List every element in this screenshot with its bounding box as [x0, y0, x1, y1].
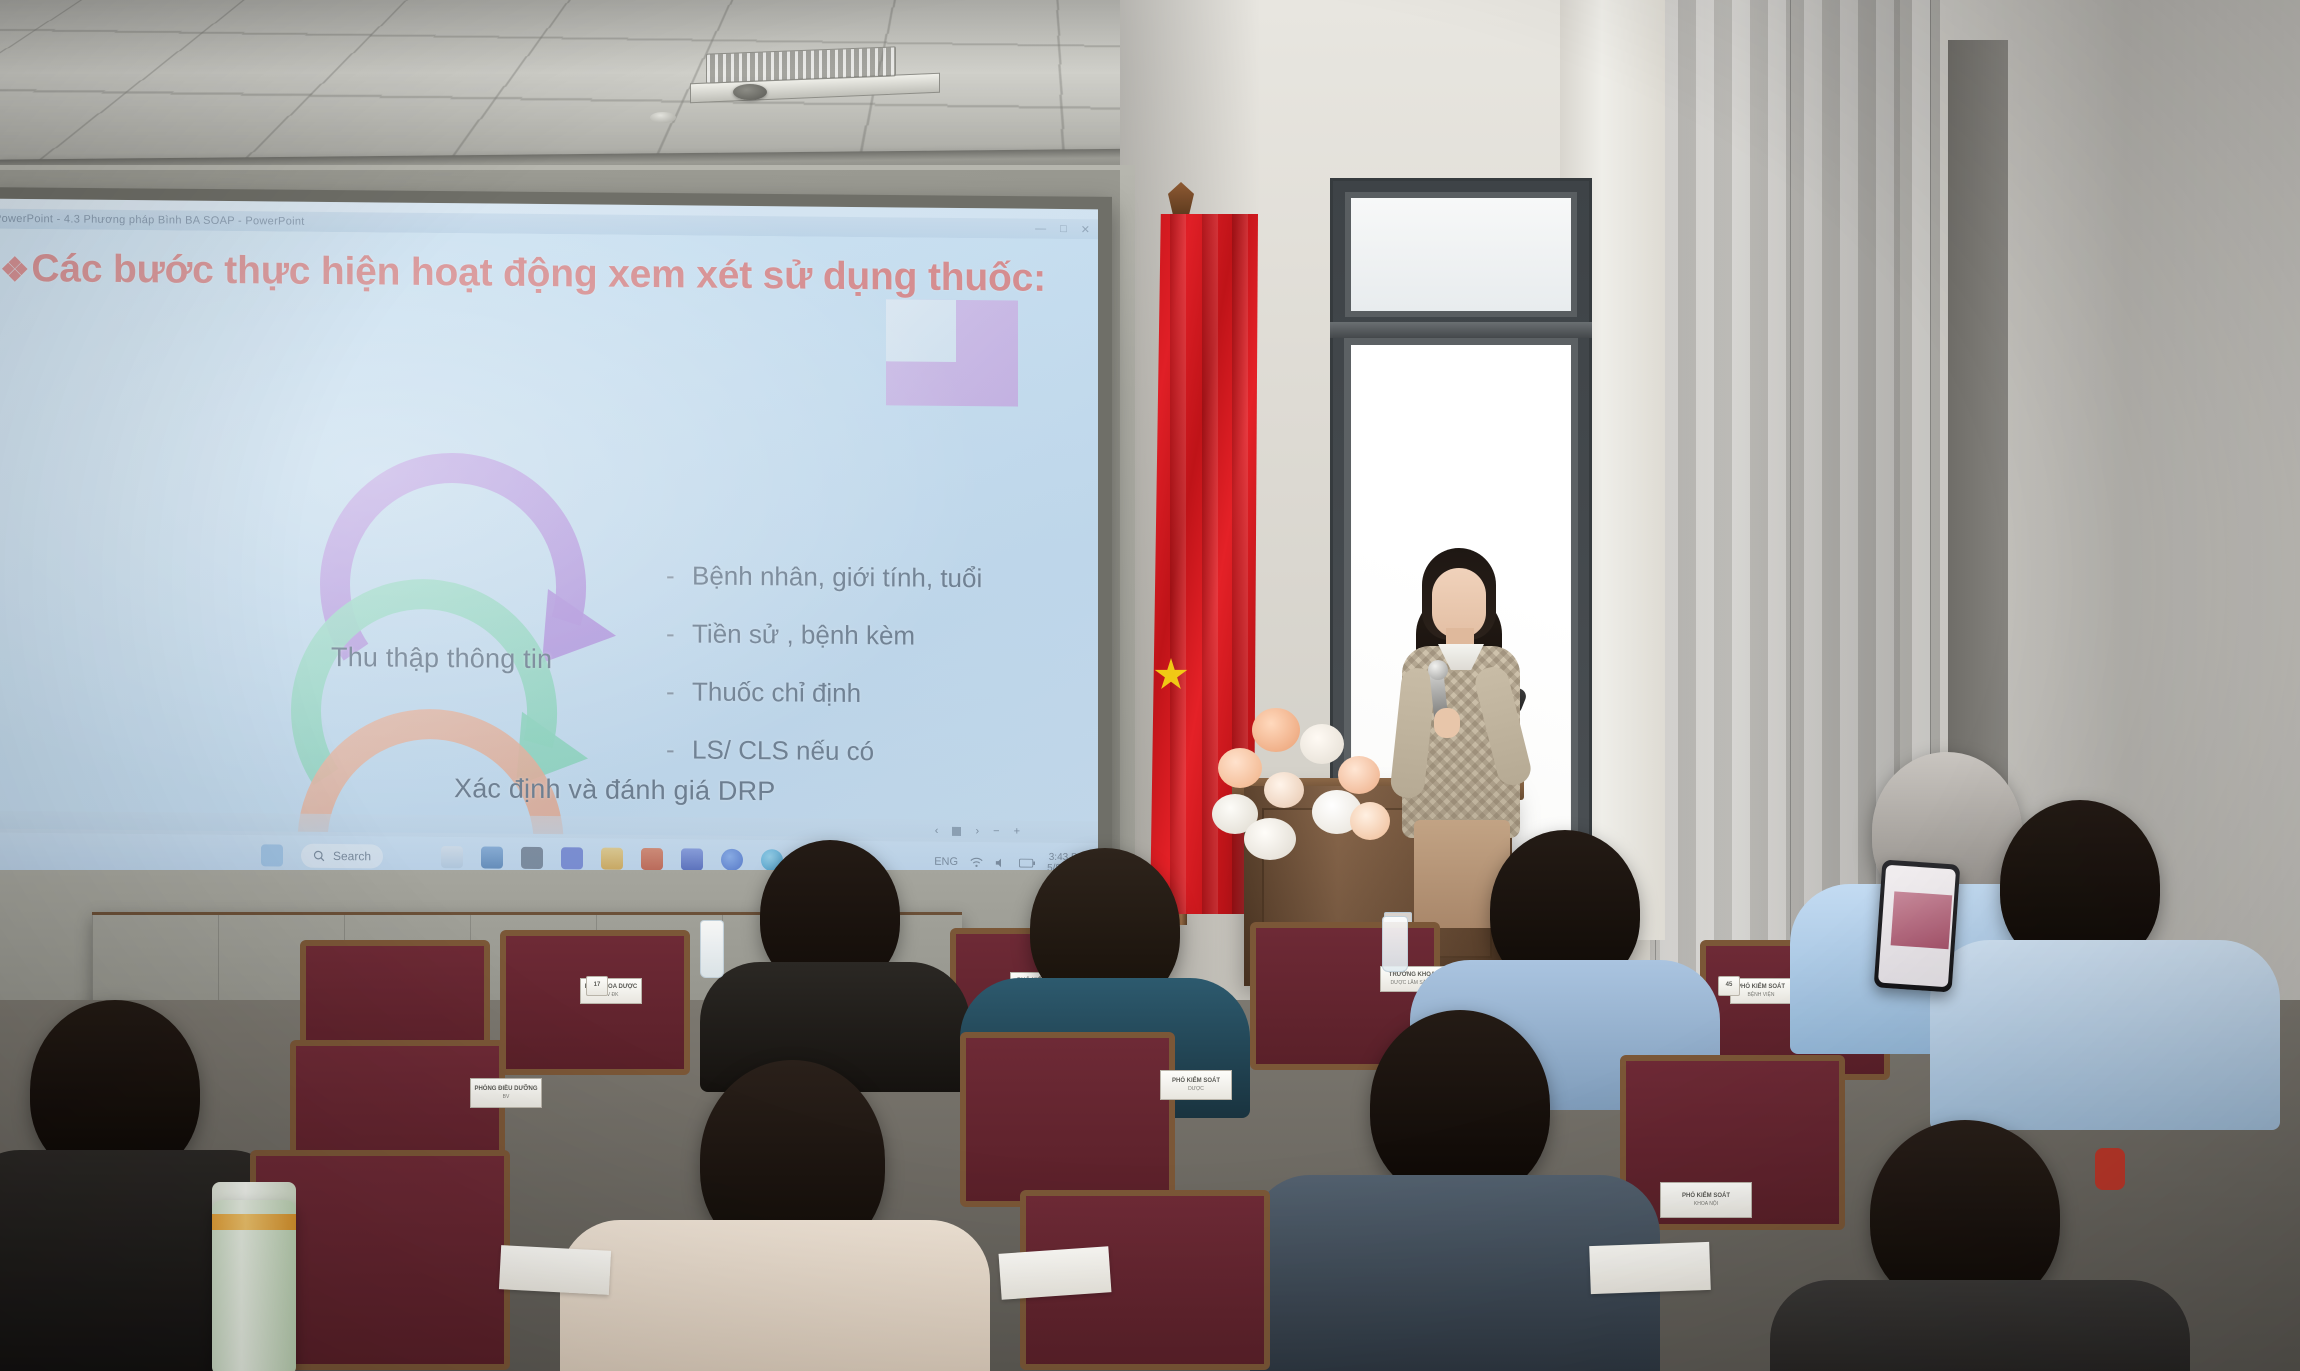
slide-title-bullet-icon: ❖ — [0, 251, 29, 288]
window-controls[interactable]: — □ ✕ — [1035, 222, 1090, 236]
nameplate: PHÓ KIỂM SOÁT KHOA NỘI — [1660, 1182, 1752, 1218]
zalo-icon[interactable] — [721, 849, 743, 871]
phone-screen — [1878, 865, 1956, 988]
smoke-detector-icon — [650, 112, 676, 123]
nameplate-sub: KHOA NỘI — [1694, 1201, 1718, 1207]
teams-icon[interactable] — [561, 847, 583, 869]
audience-head — [1370, 1010, 1550, 1200]
bullet-text: Tiền sử , bệnh kèm — [692, 618, 915, 650]
seat-number: 17 — [594, 982, 601, 990]
slide-bullet-list: -Bệnh nhân, giới tính, tuổi -Tiền sử , b… — [666, 560, 982, 795]
widgets-icon[interactable] — [261, 844, 283, 866]
store-icon[interactable] — [481, 846, 503, 868]
bullet-dash: - — [666, 560, 692, 591]
powerpoint-slide: ❖Các bước thực hiện hoạt động xem xét sử… — [0, 229, 1098, 840]
nameplate-title: PHÓ KIỂM SOÁT — [1737, 984, 1785, 992]
chair-back — [960, 1032, 1175, 1207]
battery-icon[interactable] — [1019, 858, 1035, 867]
zoom-out-button[interactable]: − — [993, 825, 999, 837]
audience-shoulders — [1770, 1280, 2190, 1371]
list-item: -Bệnh nhân, giới tính, tuổi — [666, 560, 982, 594]
microphone-head-icon — [1428, 660, 1448, 680]
maximize-icon[interactable]: □ — [1060, 222, 1067, 235]
seat-number-badge: 45 — [1718, 976, 1740, 996]
decorative-purple-notch — [886, 299, 956, 362]
file-explorer-icon[interactable] — [441, 846, 463, 868]
task-view-icon[interactable] — [521, 847, 543, 869]
nameplate-sub: BỆNH VIỆN — [1748, 992, 1775, 998]
ceiling-speaker-icon — [733, 84, 767, 100]
nameplate: PHÓ KIỂM SOÁT DƯỢC — [1160, 1070, 1232, 1100]
paper-handout — [999, 1246, 1112, 1300]
slide-indicator-icon — [952, 826, 961, 835]
audience-shoulders — [560, 1220, 990, 1371]
phone-camera-preview — [1891, 891, 1953, 949]
powerpoint-icon[interactable] — [641, 848, 663, 870]
bullet-text: Thuốc chỉ định — [692, 676, 861, 708]
nameplate-sub: BV — [503, 1094, 510, 1100]
bullet-text: LS/ CLS nếu có — [692, 734, 874, 766]
paper-handout — [499, 1245, 611, 1295]
diagram-step-label-1: Thu thập thông tin — [331, 642, 552, 675]
bullet-text: Bệnh nhân, giới tính, tuổi — [692, 560, 982, 593]
search-input[interactable]: Search — [301, 844, 383, 869]
powerpoint-title-text: PowerPoint - 4.3 Phương pháp Bình BA SOA… — [0, 213, 305, 228]
minimize-icon[interactable]: — — [1035, 222, 1046, 235]
paper-handout — [1589, 1242, 1711, 1294]
volume-icon[interactable] — [995, 857, 1007, 868]
flower-arrangement — [1208, 690, 1408, 870]
zoom-in-button[interactable]: + — [1014, 826, 1020, 838]
slide-title: ❖Các bước thực hiện hoạt động xem xét sử… — [0, 247, 1046, 301]
language-indicator[interactable]: ENG — [934, 856, 958, 868]
word-icon[interactable] — [681, 848, 703, 870]
search-placeholder: Search — [333, 849, 371, 863]
presenter-hand — [1434, 708, 1460, 738]
search-icon — [313, 850, 325, 862]
slide-title-text: Các bước thực hiện hoạt động xem xét sử … — [31, 247, 1045, 300]
wifi-icon[interactable] — [970, 857, 983, 868]
nameplate-title: PHÓ KIỂM SOÁT — [1172, 1078, 1220, 1086]
bullet-dash: - — [666, 618, 692, 649]
window-upper-pane — [1345, 192, 1577, 317]
bullet-dash: - — [666, 676, 692, 707]
projection-screen[interactable]: PowerPoint - 4.3 Phương pháp Bình BA SOA… — [0, 199, 1098, 884]
thermos-label — [212, 1214, 296, 1230]
folder-icon[interactable] — [601, 848, 623, 870]
bullet-dash: - — [666, 734, 692, 765]
water-bottle — [700, 920, 724, 978]
nameplate-sub: DƯỢC — [1188, 1086, 1204, 1092]
list-item: -Thuốc chỉ định — [666, 676, 982, 710]
nameplate-title: PHÒNG ĐIỀU DƯỠNG — [474, 1086, 537, 1094]
prev-slide-button[interactable]: ‹ — [935, 825, 939, 837]
audience-shoulders — [1930, 940, 2280, 1130]
nameplate-title: PHÓ KIỂM SOÁT — [1682, 1193, 1730, 1201]
next-slide-button[interactable]: › — [975, 825, 979, 837]
list-item: -LS/ CLS nếu có — [666, 734, 982, 768]
nameplate: PHÒNG ĐIỀU DƯỠNG BV — [470, 1078, 542, 1108]
seat-number: 45 — [1726, 982, 1733, 990]
water-bottle — [1382, 916, 1408, 972]
seat-number-badge: 17 — [586, 976, 608, 996]
conference-room-scene: PowerPoint - 4.3 Phương pháp Bình BA SOA… — [0, 0, 2300, 1371]
list-item: -Tiền sử , bệnh kèm — [666, 618, 982, 652]
window-transom-bar — [1330, 322, 1592, 338]
hair-clip — [2095, 1148, 2125, 1190]
smartphone[interactable] — [1874, 859, 1961, 992]
close-icon[interactable]: ✕ — [1081, 223, 1090, 236]
